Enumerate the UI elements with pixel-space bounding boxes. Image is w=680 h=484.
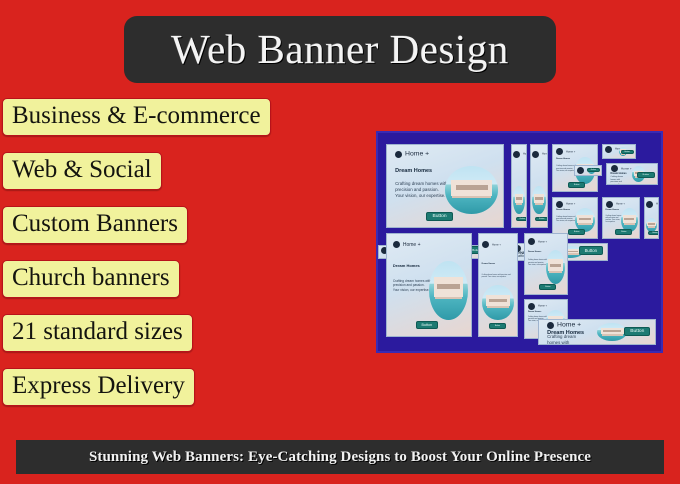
- mockup-cta-button: Button: [568, 182, 585, 188]
- mockup-nav-label: Home +: [403, 242, 421, 248]
- mockup-heading: Dream Homes: [606, 209, 619, 211]
- globe-icon: [395, 151, 402, 158]
- mockup-body-text: Crafting dream homes with precision and …: [528, 260, 547, 267]
- mockup-header: Home +: [482, 241, 510, 248]
- mockup-photo: [513, 186, 525, 214]
- banner-vert-1: Home +Dream HomesCrafting dream homes wi…: [478, 233, 518, 337]
- mockup-nav-label: Home +: [542, 153, 548, 156]
- feature-pill: 21 standard sizes: [2, 314, 193, 352]
- feature-pill-label: Church banners: [12, 263, 170, 293]
- feature-pill: Express Delivery: [2, 368, 195, 406]
- mockup-heading: Dream Homes: [528, 251, 541, 253]
- globe-icon: [605, 146, 612, 153]
- globe-icon: [528, 303, 535, 310]
- mockup-photo: [621, 208, 638, 231]
- mockup-photo: [445, 166, 498, 214]
- banner-skyscraper-3: Home +Dream HomesCrafting dream homes wi…: [644, 197, 659, 239]
- globe-icon: [606, 201, 613, 208]
- mockup-nav-label: Home +: [621, 167, 632, 171]
- mockup-header: Home +: [528, 303, 556, 310]
- feature-pill: Church banners: [2, 260, 180, 298]
- banner-skyscraper-1: Home +Dream HomesCrafting dream homes wi…: [511, 144, 527, 228]
- mockup-photo: [482, 285, 513, 320]
- mockup-heading: Dream Homes: [556, 209, 570, 211]
- mockup-cta-button: Button: [539, 284, 556, 290]
- feature-pill-label: 21 standard sizes: [12, 317, 183, 347]
- globe-icon: [556, 201, 563, 208]
- mockup-heading: Dream Homes: [528, 311, 541, 313]
- mockup-nav-label: Home +: [492, 243, 501, 246]
- globe-icon: [556, 148, 563, 155]
- mockup-nav-label: Home +: [523, 153, 527, 156]
- feature-pill: Business & E-commerce: [2, 98, 271, 136]
- mockup-cta-button: Button: [621, 150, 634, 154]
- mockup-body-text: Crafting dream homes with precision and …: [611, 176, 628, 185]
- title-bar: Web Banner Design: [124, 16, 556, 83]
- mockup-nav-label: Home +: [566, 150, 575, 153]
- page-title: Web Banner Design: [171, 29, 509, 70]
- poster-canvas: Web Banner Design Business & E-commerceW…: [0, 0, 680, 484]
- mockup-body-text: Crafting dream homes with precision and …: [393, 279, 432, 292]
- mockup-header: Home +: [513, 151, 527, 158]
- mockup-photo: [597, 323, 627, 341]
- mockup-cta-button: Button: [637, 172, 655, 178]
- globe-icon: [547, 322, 554, 329]
- feature-pill-label: Web & Social: [12, 155, 152, 185]
- tagline-bar: Stunning Web Banners: Eye-Catching Desig…: [16, 440, 664, 474]
- mockup-cta-button: Button: [489, 323, 506, 329]
- mockup-nav-label: Home +: [616, 203, 625, 206]
- banner-vert-2: Home +Dream HomesCrafting dream homes wi…: [524, 233, 568, 295]
- banner-leaderboard-1: Home +Dream HomesCrafting dream homes wi…: [606, 163, 658, 185]
- mockup-header: Home +: [528, 238, 556, 245]
- mockup-heading: Dream Homes: [395, 168, 432, 174]
- mockup-photo: [575, 208, 595, 231]
- globe-icon: [393, 241, 400, 248]
- mockup-nav-label: Home +: [557, 321, 581, 329]
- feature-pill-label: Custom Banners: [12, 209, 178, 239]
- mockup-body-text: Crafting dream homes with precision and …: [606, 216, 623, 225]
- feature-pill-label: Business & E-commerce: [12, 101, 261, 131]
- mockup-photo: [546, 250, 565, 285]
- banner-leaderboard-2: Home +Dream HomesCrafting dream homes wi…: [538, 319, 656, 345]
- globe-icon: [646, 201, 653, 208]
- mockup-photo: [646, 218, 657, 232]
- globe-icon: [513, 151, 520, 158]
- mockup-cta-button: Button: [568, 229, 585, 235]
- mockup-header: Home +: [547, 322, 575, 329]
- mockup-body-text: Crafting dream homes with precision and …: [547, 334, 586, 345]
- banner-small-wide-1: Home +Dream HomesCrafting dream homes wi…: [602, 144, 636, 159]
- feature-pill-label: Express Delivery: [12, 371, 185, 401]
- banner-showcase-panel: Home +Dream HomesCrafting dream homes wi…: [376, 131, 663, 353]
- banner-skyscraper-2: Home +Dream HomesCrafting dream homes wi…: [530, 144, 548, 228]
- mockup-header: Home +: [556, 201, 584, 208]
- mockup-photo: [429, 261, 468, 320]
- feature-pill: Custom Banners: [2, 206, 188, 244]
- mockup-body-text: Crafting dream homes with precision and …: [556, 216, 576, 223]
- banner-large-hero: Home +Dream HomesCrafting dream homes wi…: [386, 144, 504, 228]
- mockup-cta-button: Button: [516, 217, 527, 221]
- globe-icon: [528, 238, 535, 245]
- mockup-nav-label: Home +: [566, 203, 575, 206]
- banner-small-wide-2: Home +Dream HomesCrafting dream homes wi…: [574, 165, 602, 176]
- mockup-heading: Dream Homes: [611, 172, 627, 175]
- tagline-text: Stunning Web Banners: Eye-Catching Desig…: [89, 449, 591, 466]
- globe-icon: [532, 151, 539, 158]
- mockup-cta-button: Button: [579, 246, 603, 255]
- mockup-cta-button: Button: [587, 168, 600, 172]
- mockup-nav-label: Home +: [538, 240, 547, 243]
- mockup-header: Home +: [393, 241, 421, 248]
- mockup-heading: Dream Homes: [482, 263, 495, 265]
- mockup-header: Home +: [646, 201, 659, 208]
- mockup-body-text: Crafting dream homes with precision and …: [482, 275, 513, 279]
- banner-medium-3: Home +Dream HomesCrafting dream homes wi…: [602, 197, 640, 239]
- feature-list: Business & E-commerceWeb & SocialCustom …: [2, 98, 358, 422]
- mockup-header: Home +: [606, 201, 634, 208]
- mockup-cta-button: Button: [624, 327, 650, 336]
- mockup-header: Home +: [556, 148, 584, 155]
- mockup-header: Home +: [395, 151, 423, 158]
- feature-pill: Web & Social: [2, 152, 162, 190]
- mockup-cta-button: Button: [535, 217, 548, 221]
- mockup-cta-button: Button: [615, 229, 632, 235]
- mockup-header: Home +: [532, 151, 548, 158]
- mockup-body-text: Crafting dream homes with precision and …: [395, 181, 448, 199]
- mockup-heading: Dream Homes: [393, 263, 420, 268]
- mockup-heading: Dream Homes: [556, 158, 570, 160]
- globe-icon: [577, 167, 584, 174]
- banner-hero-2: Home +Dream HomesCrafting dream homes wi…: [386, 233, 472, 337]
- mockup-nav-label: Home +: [538, 305, 547, 308]
- mockup-nav-label: Home +: [656, 203, 659, 206]
- mockup-cta-button: Button: [648, 231, 659, 235]
- mockup-nav-label: Home +: [405, 150, 429, 158]
- mockup-photo: [532, 186, 545, 214]
- mockup-cta-button: Button: [416, 321, 438, 329]
- mockup-cta-button: Button: [426, 212, 452, 221]
- globe-icon: [482, 241, 489, 248]
